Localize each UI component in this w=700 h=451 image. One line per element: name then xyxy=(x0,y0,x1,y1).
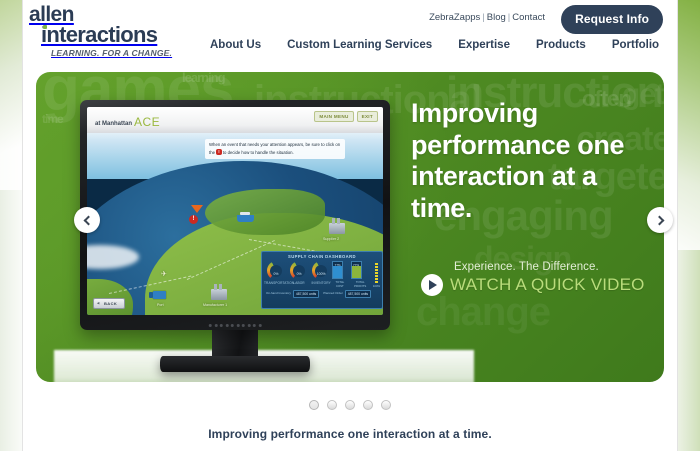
chevron-left-icon xyxy=(83,215,93,225)
gauge-label: TRANSPORTATION xyxy=(264,281,288,285)
page-sheet: allen interactions LEARNING. FOR A CHANG… xyxy=(22,0,678,451)
video-cta[interactable]: Experience. The Difference. WATCH A QUIC… xyxy=(421,261,664,296)
nav-item-custom-learning-services[interactable]: Custom Learning Services xyxy=(274,39,445,51)
bar-total-profits: 77% TOTAL PROFITS xyxy=(351,261,370,288)
request-info-button[interactable]: Request Info xyxy=(561,5,663,34)
course-screen: Supplier 1 Supplier 2 Manufacturer 1 M xyxy=(87,107,383,315)
carousel-next-button[interactable] xyxy=(647,207,673,233)
map-node-port[interactable] xyxy=(153,291,166,299)
dashboard-title: SUPPLY CHAIN DASHBOARD xyxy=(264,254,380,259)
landmass xyxy=(87,279,133,315)
gauge-value: 0% xyxy=(267,272,286,276)
alert-badge[interactable]: ! xyxy=(189,215,198,224)
logo-line-interactions: interactions xyxy=(41,24,172,45)
gauge-label: LABOR xyxy=(288,281,310,285)
metric-label: On-hand Inventory xyxy=(266,292,291,296)
map-node-manufacturer-1[interactable] xyxy=(211,289,227,300)
course-app-name: ACE xyxy=(134,115,160,129)
dashboard-footer: On-hand Inventory 487,500 units Planned … xyxy=(264,290,380,298)
ship-icon xyxy=(237,215,254,222)
map-node-supplier-2[interactable] xyxy=(329,223,345,234)
utility-link-contact[interactable]: Contact xyxy=(512,12,545,23)
gauge-inventory: 100% INVENTORY xyxy=(310,261,332,285)
cta-kicker: Experience. The Difference. xyxy=(454,261,664,273)
instruction-tooltip: When an event that needs your attention … xyxy=(205,139,345,159)
chevron-right-icon xyxy=(654,215,664,225)
gauge-value: 0% xyxy=(290,272,309,276)
cloud xyxy=(87,245,139,269)
course-app-buttons: MAIN MENU EXIT xyxy=(314,111,378,122)
carousel-dot-5[interactable] xyxy=(381,400,391,410)
logo-tagline: LEARNING. FOR A CHANGE. xyxy=(51,48,172,58)
map-node-label: Supplier 2 xyxy=(323,237,339,241)
utility-separator: | xyxy=(482,12,484,23)
monitor-bezel-indicator xyxy=(209,324,262,327)
monitor-bezel: Supplier 1 Supplier 2 Manufacturer 1 M xyxy=(80,100,390,330)
hero-bg-word: iterative xyxy=(366,72,418,76)
gauge-value: 100% xyxy=(312,272,331,276)
bar-track: 77% xyxy=(332,261,343,279)
hero-headline: Improving performance one interaction at… xyxy=(411,98,651,224)
gauge-labor: 0% LABOR xyxy=(288,261,310,285)
metric-on-hand-inventory: On-hand Inventory 487,500 units xyxy=(266,290,319,298)
gauge-dial: 0% xyxy=(290,261,309,280)
bar-total-cost: 77% TOTAL COST xyxy=(332,261,347,288)
scale-label: 100% xyxy=(373,284,380,288)
factory-icon xyxy=(211,289,227,300)
logo-line-interactions-text: interactions xyxy=(41,22,157,47)
nav-item-portfolio[interactable]: Portfolio xyxy=(599,39,672,51)
alert-cone-icon xyxy=(191,205,203,213)
carousel-prev-button[interactable] xyxy=(74,207,100,233)
map-node-label: Port xyxy=(157,303,164,307)
tooltip-alert-badge: ! xyxy=(216,149,221,156)
carousel-dot-4[interactable] xyxy=(363,400,373,410)
carousel-dot-2[interactable] xyxy=(327,400,337,410)
led-scale-icon xyxy=(375,263,380,283)
monitor-mockup: Supplier 1 Supplier 2 Manufacturer 1 M xyxy=(80,100,390,330)
metric-value: 487,500 units xyxy=(345,290,371,298)
hero-bg-word: learning xyxy=(182,72,225,85)
carousel-dot-1[interactable] xyxy=(309,400,319,410)
gauge-dial: 0% xyxy=(267,261,286,280)
dashboard-gauges: 0% TRANSPORTATION 0% LABOR xyxy=(264,261,380,288)
exit-button[interactable]: EXIT xyxy=(357,111,378,122)
site-logo[interactable]: allen interactions LEARNING. FOR A CHANG… xyxy=(29,6,172,58)
carousel-dot-3[interactable] xyxy=(345,400,355,410)
utility-link-blog[interactable]: Blog xyxy=(487,12,506,23)
main-menu-button[interactable]: MAIN MENU xyxy=(314,111,353,122)
landmass xyxy=(205,189,325,235)
gauge-transportation: 0% TRANSPORTATION xyxy=(264,261,288,285)
ship-in-transit[interactable] xyxy=(237,215,254,222)
bar-label: TOTAL COST xyxy=(332,280,347,288)
main-nav: About Us Custom Learning Services Expert… xyxy=(197,39,678,51)
nav-item-expertise[interactable]: Expertise xyxy=(445,39,523,51)
course-back-button[interactable]: BACK xyxy=(93,298,125,309)
dashboard-bars: 77% TOTAL COST 77% xyxy=(332,261,380,288)
plane-icon: ✈ xyxy=(161,271,167,278)
metric-planned-order: Planned Order 487,500 units xyxy=(323,290,371,298)
course-app-header: at ManhattanACE MAIN MENU EXIT xyxy=(87,107,383,133)
bar-label: TOTAL PROFITS xyxy=(351,280,370,288)
logo-accent-dot xyxy=(43,25,47,29)
watch-video-link[interactable]: WATCH A QUICK VIDEO xyxy=(450,275,645,295)
course-app-logo: at ManhattanACE xyxy=(95,115,160,129)
gauge-dial: 100% xyxy=(312,261,331,280)
utility-separator: | xyxy=(508,12,510,23)
site-header: allen interactions LEARNING. FOR A CHANG… xyxy=(23,0,677,66)
page-tagline: Improving performance one interaction at… xyxy=(23,427,677,441)
hero-bg-word: time xyxy=(42,112,63,126)
cta-row: WATCH A QUICK VIDEO xyxy=(421,274,664,296)
dashboard-scale: 100% xyxy=(373,263,380,288)
supply-chain-dashboard: SUPPLY CHAIN DASHBOARD 0% TRANSPORTATION xyxy=(261,251,383,309)
utility-link-zebrazapps[interactable]: ZebraZapps xyxy=(429,12,480,23)
metric-label: Planned Order xyxy=(323,292,343,296)
gauge-label: INVENTORY xyxy=(310,281,332,285)
carousel-pagination xyxy=(23,400,677,410)
factory-icon xyxy=(329,223,345,234)
course-app-brand-prefix: at Manhattan xyxy=(95,121,132,127)
monitor-base xyxy=(160,356,310,372)
nav-item-products[interactable]: Products xyxy=(523,39,599,51)
truck-icon xyxy=(153,291,166,299)
play-icon[interactable] xyxy=(421,274,443,296)
nav-item-about-us[interactable]: About Us xyxy=(197,39,274,51)
tooltip-text-after: to decide how to handle the situation. xyxy=(223,150,294,155)
utility-nav: ZebraZapps|Blog|Contact xyxy=(429,12,545,23)
nav-item-resources[interactable]: Resources xyxy=(672,39,678,51)
hero-banner: games instructional learning iterative r… xyxy=(36,72,664,382)
hero-copy: Improving performance one interaction at… xyxy=(411,98,651,224)
hero-bg-word: change xyxy=(416,290,550,335)
map-node-label: Manufacturer 1 xyxy=(203,303,227,307)
metric-value: 487,500 units xyxy=(293,290,319,298)
bar-track: 77% xyxy=(351,261,362,279)
